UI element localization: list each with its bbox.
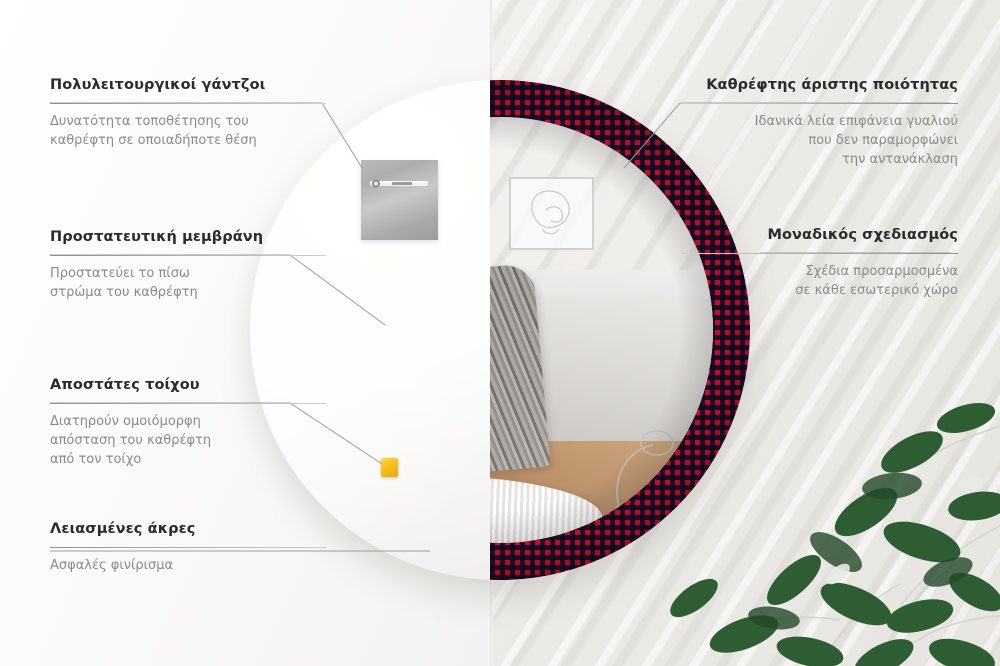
product-mirror-graphic xyxy=(250,80,750,580)
callout-body: Δυνατότητα τοποθέτησης τουκαθρέφτη σε οπ… xyxy=(50,113,326,151)
wall-spacer-part xyxy=(381,458,398,477)
callout-wall-spacers: Αποστάτες τοίχου Διατηρούν ομοιόμορφηαπό… xyxy=(50,376,326,470)
callout-divider xyxy=(50,103,326,104)
callout-top-quality-mirror: Καθρέφτης άριστης ποιότητας Ιδανικά λεία… xyxy=(682,76,958,170)
callout-body: Διατηρούν ομοιόμορφηαπόσταση του καθρέφτ… xyxy=(50,413,326,470)
callout-divider xyxy=(50,255,326,256)
callout-unique-design: Μοναδικός σχεδιασμός Σχέδια προσαρμοσμέν… xyxy=(682,226,958,301)
callout-title: Πολυλειτουργικοί γάντζοι xyxy=(50,76,326,94)
callout-title: Καθρέφτης άριστης ποιότητας xyxy=(682,76,958,94)
callout-body: Ασφαλές φινίρισμα xyxy=(50,557,326,576)
callout-divider xyxy=(682,253,958,254)
hook-mounting-plate xyxy=(361,160,438,240)
callout-divider xyxy=(50,403,326,404)
reflected-floor-lamp xyxy=(609,419,679,509)
callout-protective-membrane: Προστατευτική μεμβράνη Προστατεύει το πί… xyxy=(50,228,326,303)
callout-title: Μοναδικός σχεδιασμός xyxy=(682,226,958,244)
callout-smoothed-edges: Λειασμένες άκρες Ασφαλές φινίρισμα xyxy=(50,520,326,576)
hook-icon xyxy=(370,175,430,188)
callout-body: Ιδανικά λεία επιφάνεια γυαλιούπου δεν πα… xyxy=(682,113,958,170)
reflected-framed-art xyxy=(509,177,594,250)
callout-body: Προστατεύει το πίσωστρώμα του καθρέφτη xyxy=(50,265,326,303)
callout-divider xyxy=(682,103,958,104)
callout-divider xyxy=(50,547,326,548)
callout-title: Προστατευτική μεμβράνη xyxy=(50,228,326,246)
callout-title: Αποστάτες τοίχου xyxy=(50,376,326,394)
callout-multifunctional-hooks: Πολυλειτουργικοί γάντζοι Δυνατότητα τοπο… xyxy=(50,76,326,151)
callout-title: Λειασμένες άκρες xyxy=(50,520,326,538)
infographic-stage: Πολυλειτουργικοί γάντζοι Δυνατότητα τοπο… xyxy=(0,0,1000,666)
callout-body: Σχέδια προσαρμοσμένασε κάθε εσωτερικό χώ… xyxy=(682,263,958,301)
